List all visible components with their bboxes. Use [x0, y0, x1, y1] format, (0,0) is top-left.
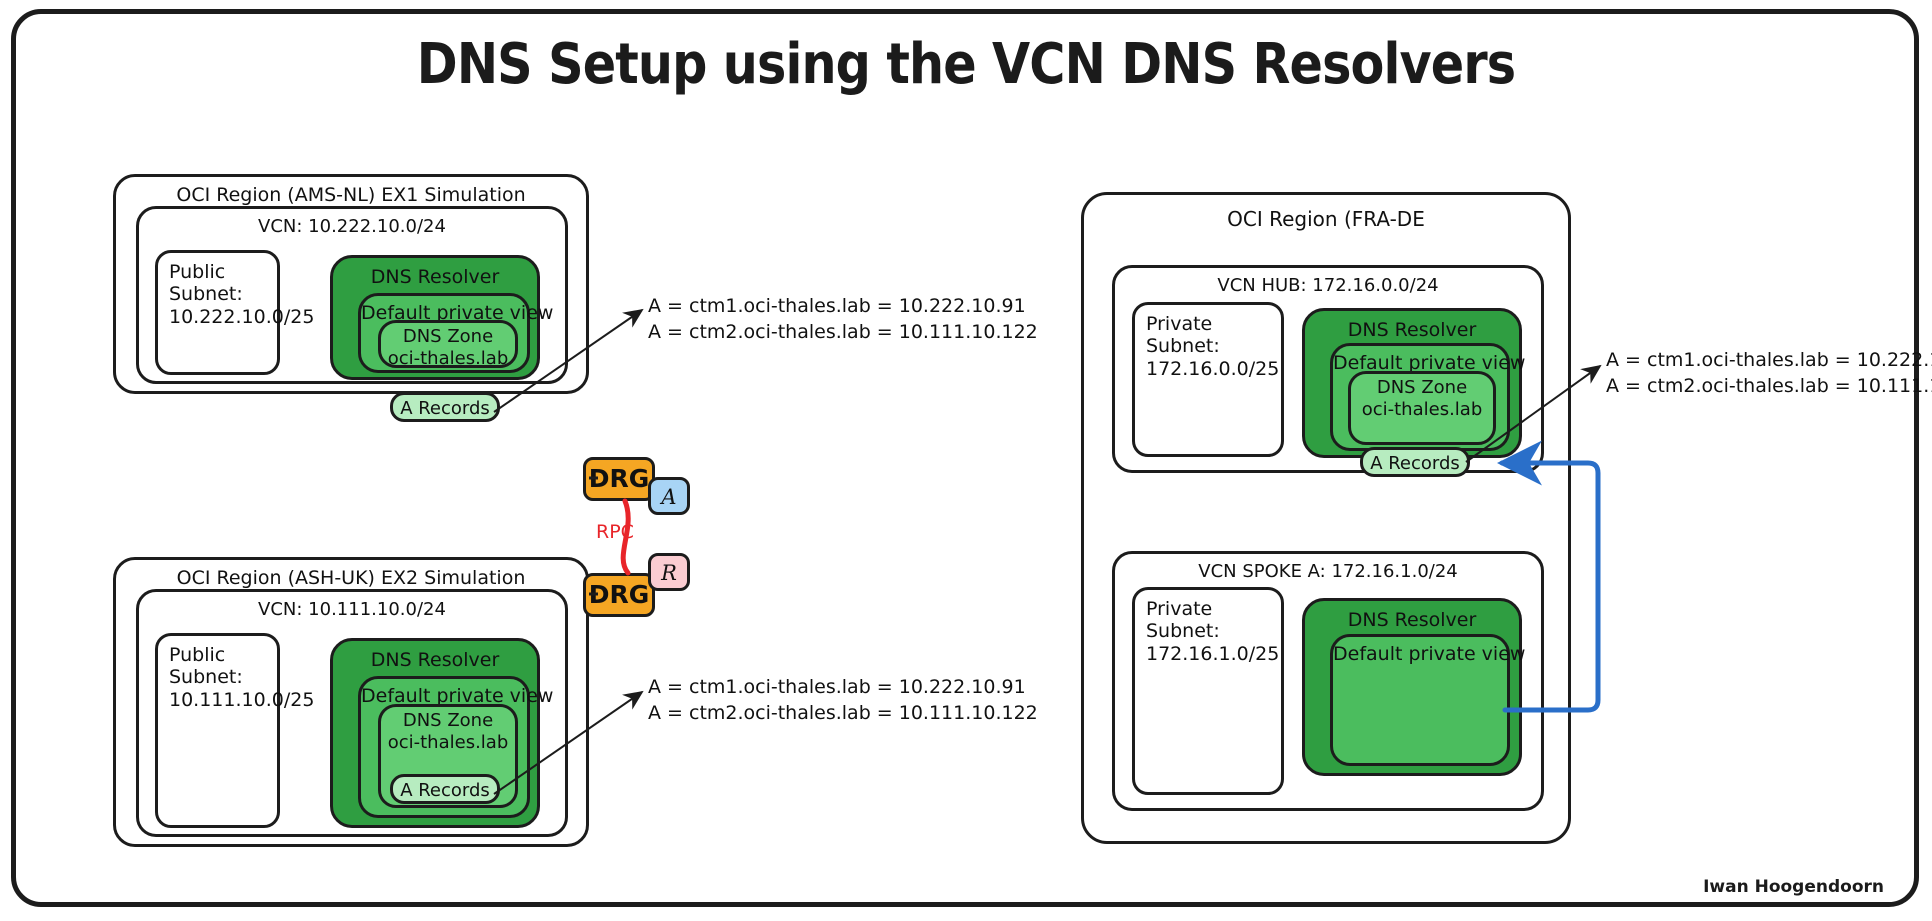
- annotation-hub: A = ctm1.oci-thales.lab = 10.222.10.91 A…: [1606, 348, 1932, 399]
- zone-ams-nl-label: DNS Zone oci-thales.lab: [381, 326, 515, 369]
- annotation-ams-nl: A = ctm1.oci-thales.lab = 10.222.10.91 A…: [648, 294, 1038, 345]
- badge-accepter[interactable]: A: [648, 477, 690, 515]
- subnet-ash-uk: Public Subnet: 10.111.10.0/25: [155, 633, 280, 828]
- vcn-spoke-a-title: VCN SPOKE A: 172.16.1.0/24: [1115, 561, 1541, 582]
- subnet-spoke-a: Private Subnet: 172.16.1.0/25: [1132, 587, 1284, 795]
- view-spoke-a: Default private view: [1330, 634, 1510, 766]
- annotation-ash-uk: A = ctm1.oci-thales.lab = 10.222.10.91 A…: [648, 675, 1038, 726]
- resolver-hub-label: DNS Resolver: [1305, 319, 1519, 341]
- diagram-canvas: DNS Setup using the VCN DNS Resolvers OC…: [0, 0, 1932, 921]
- author-signature: Iwan Hoogendoorn: [1703, 877, 1884, 897]
- page-title: DNS Setup using the VCN DNS Resolvers: [116, 32, 1816, 97]
- subnet-ams-nl: Public Subnet: 10.222.10.0/25: [155, 250, 280, 375]
- annotation-hub-line2: A = ctm2.oci-thales.lab = 10.111.10.122: [1606, 374, 1932, 400]
- region-fra-de-title: OCI Region (FRA-DE: [1084, 207, 1568, 231]
- zone-hub: DNS Zone oci-thales.lab: [1348, 371, 1496, 445]
- subnet-hub: Private Subnet: 172.16.0.0/25: [1132, 302, 1284, 457]
- annotation-hub-line1: A = ctm1.oci-thales.lab = 10.222.10.91: [1606, 348, 1932, 374]
- subnet-spoke-a-label: Private Subnet: 172.16.1.0/25: [1146, 598, 1275, 665]
- rpc-label: RPC: [596, 521, 634, 543]
- annotation-ams-nl-line2: A = ctm2.oci-thales.lab = 10.111.10.122: [648, 320, 1038, 346]
- vcn-ash-uk-title: VCN: 10.111.10.0/24: [139, 599, 565, 620]
- vcn-hub-title: VCN HUB: 172.16.0.0/24: [1115, 275, 1541, 296]
- subnet-ams-nl-label: Public Subnet: 10.222.10.0/25: [169, 261, 271, 328]
- region-ash-uk-title: OCI Region (ASH-UK) EX2 Simulation: [116, 567, 586, 589]
- a-records-ams-nl: A Records: [390, 392, 500, 422]
- region-ams-nl-title: OCI Region (AMS-NL) EX1 Simulation: [116, 184, 586, 206]
- zone-hub-label: DNS Zone oci-thales.lab: [1351, 377, 1493, 420]
- resolver-ams-nl-label: DNS Resolver: [333, 266, 537, 288]
- a-records-hub-label: A Records: [1363, 453, 1467, 474]
- a-records-ash-uk-label: A Records: [393, 780, 497, 801]
- view-spoke-a-label: Default private view: [1333, 643, 1507, 665]
- drg-ash-uk[interactable]: DRG: [583, 573, 655, 617]
- annotation-ams-nl-line1: A = ctm1.oci-thales.lab = 10.222.10.91: [648, 294, 1038, 320]
- badge-requestor[interactable]: R: [648, 553, 690, 591]
- vcn-ams-nl-title: VCN: 10.222.10.0/24: [139, 216, 565, 237]
- zone-ams-nl: DNS Zone oci-thales.lab: [378, 320, 518, 368]
- drg-ams-nl[interactable]: DRG: [583, 457, 655, 501]
- subnet-ash-uk-label: Public Subnet: 10.111.10.0/25: [169, 644, 271, 711]
- resolver-ash-uk-label: DNS Resolver: [333, 649, 537, 671]
- annotation-ash-uk-line1: A = ctm1.oci-thales.lab = 10.222.10.91: [648, 675, 1038, 701]
- annotation-ash-uk-line2: A = ctm2.oci-thales.lab = 10.111.10.122: [648, 701, 1038, 727]
- zone-ash-uk-label: DNS Zone oci-thales.lab: [381, 710, 515, 753]
- resolver-spoke-a-label: DNS Resolver: [1305, 609, 1519, 631]
- subnet-hub-label: Private Subnet: 172.16.0.0/25: [1146, 313, 1275, 380]
- a-records-hub: A Records: [1360, 447, 1470, 477]
- a-records-ash-uk: A Records: [390, 774, 500, 804]
- a-records-ams-nl-label: A Records: [393, 398, 497, 419]
